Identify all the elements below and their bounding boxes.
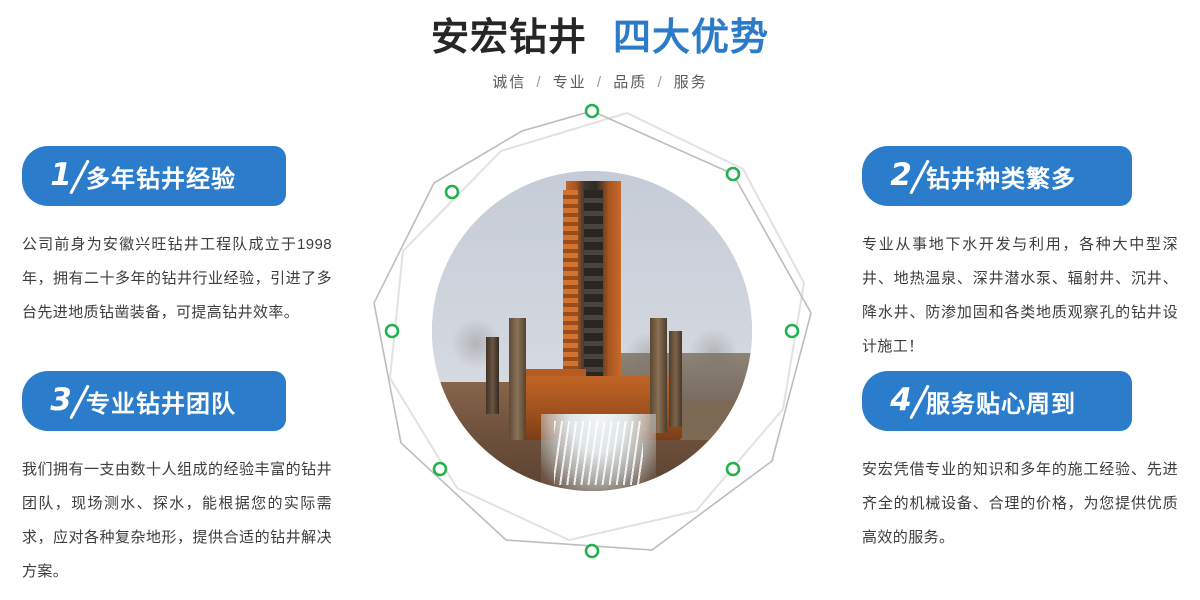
number-badge-icon: 3 <box>40 380 82 422</box>
page-header: 安宏钻井四大优势 诚信 / 专业 / 品质 / 服务 <box>0 0 1200 92</box>
number-badge-icon: 2 <box>880 155 922 197</box>
advantage-card-4-title: 服务贴心周到 <box>926 384 1076 419</box>
subtitle-item-1: 专业 <box>553 74 587 91</box>
photo-rig-leg <box>509 318 527 440</box>
page-title-accent: 四大优势 <box>613 17 769 59</box>
subtitle-item-3: 服务 <box>674 74 708 91</box>
advantage-card-3[interactable]: 3 专业钻井团队 我们拥有一支由数十人组成的经验丰富的钻井团队，现场测水、探水，… <box>0 371 340 589</box>
subtitle-separator: / <box>653 74 667 91</box>
advantage-card-1[interactable]: 1 多年钻井经验 公司前身为安徽兴旺钻井工程队成立于1998年，拥有二十多年的钻… <box>0 146 340 330</box>
number-badge-icon: 1 <box>40 155 82 197</box>
badge-number: 1 <box>40 153 82 197</box>
advantage-card-4-banner: 4 服务贴心周到 <box>862 371 1132 431</box>
badge-number: 3 <box>40 378 82 422</box>
advantage-card-2[interactable]: 2 钻井种类繁多 专业从事地下水开发与利用，各种大中型深井、地热温泉、深井潜水泵… <box>850 146 1190 364</box>
page-title-brand: 安宏钻井 <box>431 17 587 59</box>
advantage-card-4-body: 安宏凭借专业的知识和多年的施工经验、先进齐全的机械设备、合理的价格，为您提供优质… <box>862 453 1178 555</box>
advantage-card-1-title: 多年钻井经验 <box>86 159 236 194</box>
vertex-marker-icon <box>586 545 598 557</box>
vertex-marker-icon <box>586 105 598 117</box>
badge-number: 4 <box>880 378 922 422</box>
photo-rig-leg <box>486 337 499 414</box>
advantage-card-3-banner: 3 专业钻井团队 <box>22 371 286 431</box>
advantage-card-4[interactable]: 4 服务贴心周到 安宏凭借专业的知识和多年的施工经验、先进齐全的机械设备、合理的… <box>850 371 1190 555</box>
center-graphic <box>352 91 832 571</box>
page-subtitle: 诚信 / 专业 / 品质 / 服务 <box>0 71 1200 92</box>
subtitle-separator: / <box>593 74 607 91</box>
advantage-card-2-body: 专业从事地下水开发与利用，各种大中型深井、地热温泉、深井潜水泵、辐射井、沉井、降… <box>862 228 1178 364</box>
photo-water-spray <box>554 421 644 485</box>
page-root: 安宏钻井四大优势 诚信 / 专业 / 品质 / 服务 1 多年钻井经验 公司前身… <box>0 0 1200 600</box>
page-title: 安宏钻井四大优势 <box>0 14 1200 62</box>
photo-tree <box>688 328 739 379</box>
subtitle-item-0: 诚信 <box>492 74 526 91</box>
vertex-marker-icon <box>386 325 398 337</box>
number-badge-icon: 4 <box>880 380 922 422</box>
photo-rig-ladder <box>563 190 577 376</box>
advantage-card-2-banner: 2 钻井种类繁多 <box>862 146 1132 206</box>
advantage-card-1-body: 公司前身为安徽兴旺钻井工程队成立于1998年，拥有二十多年的钻井行业经验，引进了… <box>22 228 332 330</box>
photo-rig-leg <box>669 331 682 427</box>
photo-rig-mast-inner <box>584 190 603 376</box>
advantage-card-1-banner: 1 多年钻井经验 <box>22 146 286 206</box>
subtitle-separator: / <box>532 74 546 91</box>
vertex-marker-icon <box>786 325 798 337</box>
advantage-card-3-title: 专业钻井团队 <box>86 384 236 419</box>
drilling-rig-photo <box>432 171 752 491</box>
badge-number: 2 <box>880 153 922 197</box>
subtitle-item-2: 品质 <box>613 74 647 91</box>
advantage-card-2-title: 钻井种类繁多 <box>926 159 1076 194</box>
advantage-card-3-body: 我们拥有一支由数十人组成的经验丰富的钻井团队，现场测水、探水，能根据您的实际需求… <box>22 453 332 589</box>
